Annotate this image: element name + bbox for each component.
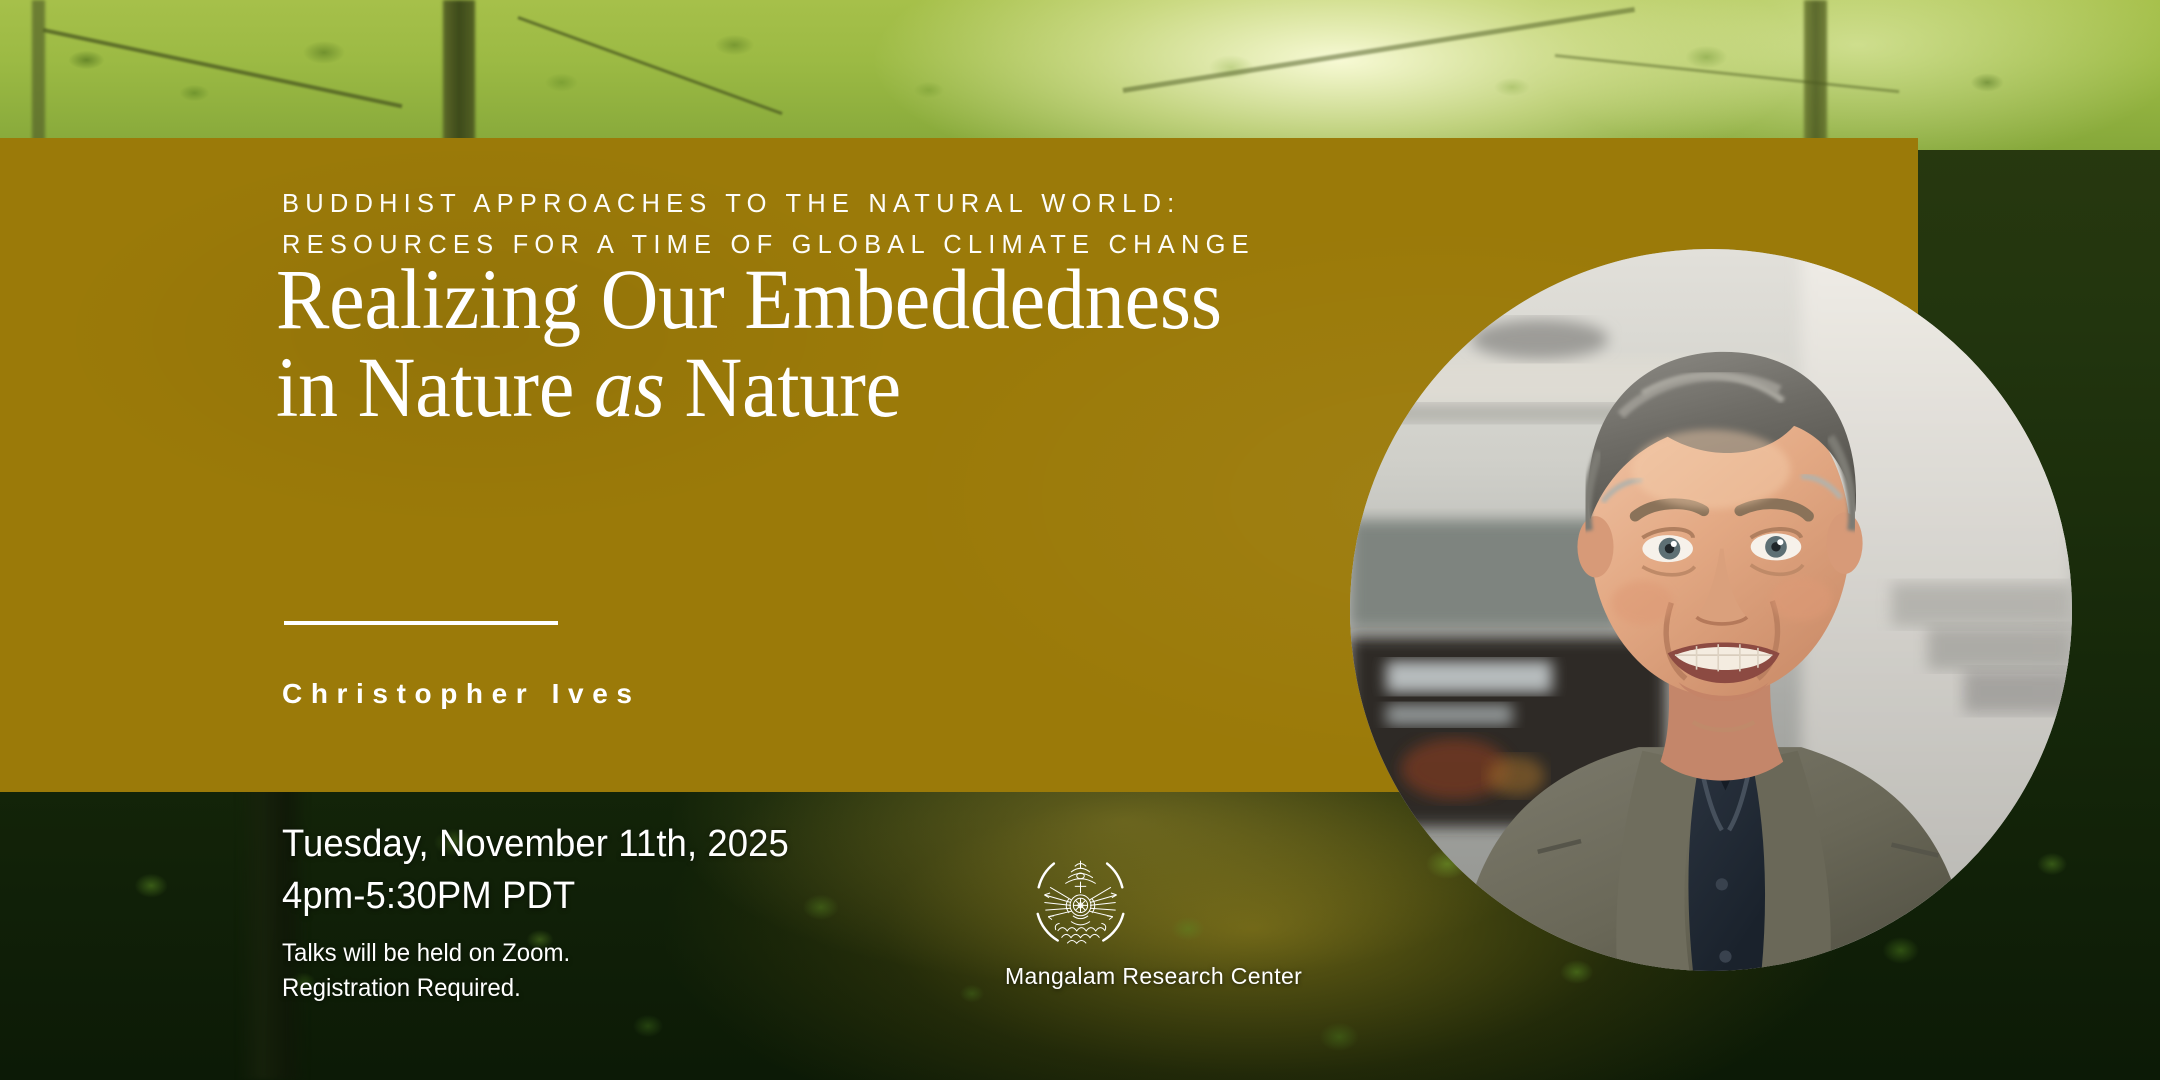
event-date: Tuesday, November 11th, 2025 — [282, 818, 789, 870]
canopy-trunk-1 — [443, 0, 475, 150]
speaker-portrait — [1350, 249, 2072, 971]
talk-title-line-2-after: Nature — [665, 339, 901, 435]
event-details: Tuesday, November 11th, 2025 4pm-5:30PM … — [282, 818, 810, 1006]
event-note: Talks will be held on Zoom.Registration … — [282, 936, 789, 1006]
dharma-wheel-mandala-icon — [1033, 855, 1128, 950]
event-time: 4pm-5:30PM PDT — [282, 870, 789, 922]
title-divider-rule — [284, 621, 558, 625]
organization-name: Mangalam Research Center — [1005, 963, 1155, 990]
talk-title-line-1: Realizing Our Embeddedness — [276, 251, 1222, 347]
canopy-trunk-2 — [1804, 0, 1828, 150]
event-note-line-1: Talks will be held on Zoom. — [282, 939, 570, 967]
talk-title: Realizing Our Embeddednessin Nature as N… — [276, 256, 1222, 431]
speaker-name: Christopher Ives — [282, 678, 641, 710]
event-banner: BUDDHIST APPROACHES TO THE NATURAL WORLD… — [0, 0, 2160, 1080]
speaker-portrait-photo — [1350, 249, 2072, 971]
event-note-line-2: Registration Required. — [282, 974, 521, 1002]
canopy-leaf-texture — [0, 0, 2160, 150]
talk-title-emphasis: as — [594, 339, 665, 435]
canopy-trunk-3 — [32, 0, 45, 150]
organization-logo-block: Mangalam Research Center — [1005, 855, 1155, 990]
series-eyebrow-line-1: BUDDHIST APPROACHES TO THE NATURAL WORLD… — [282, 190, 1180, 218]
band-text-content: BUDDHIST APPROACHES TO THE NATURAL WORLD… — [282, 138, 1482, 792]
talk-title-line-2-before: in Nature — [276, 339, 594, 435]
